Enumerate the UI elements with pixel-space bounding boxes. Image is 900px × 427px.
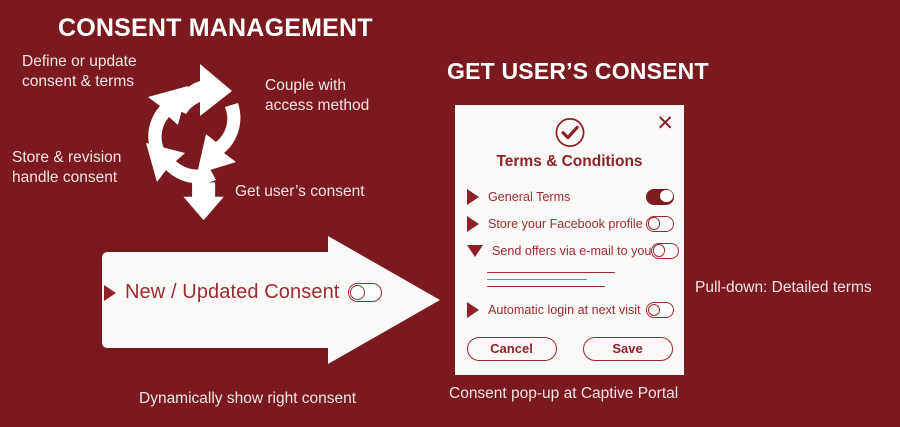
new-updated-consent-row[interactable]: New / Updated Consent xyxy=(104,281,382,304)
triangle-down-icon[interactable] xyxy=(467,245,483,257)
send-offers-detail-lines xyxy=(467,264,674,297)
cycle-label-define-line2: consent & terms xyxy=(22,72,137,92)
consent-row-label: Automatic login at next visit xyxy=(488,303,646,317)
cycle-label-store: Store & revision handle consent xyxy=(12,148,121,188)
detail-line xyxy=(487,279,587,281)
consent-toggle-general-terms[interactable] xyxy=(646,189,674,205)
consent-toggle-facebook-profile[interactable] xyxy=(646,216,674,232)
page-title-get-user-consent: GET USER’S CONSENT xyxy=(447,58,709,85)
toggle-knob xyxy=(653,244,666,257)
cycle-label-store-line1: Store & revision xyxy=(12,148,121,168)
cycle-label-define-line1: Define or update xyxy=(22,52,137,72)
consent-toggle-send-offers[interactable] xyxy=(651,243,679,259)
cycle-label-define: Define or update consent & terms xyxy=(22,52,137,92)
cancel-button[interactable]: Cancel xyxy=(467,337,557,361)
popup-action-bar: Cancel Save xyxy=(455,337,684,361)
save-button[interactable]: Save xyxy=(583,337,673,361)
consent-row-label: General Terms xyxy=(488,190,646,204)
new-updated-consent-label: New / Updated Consent xyxy=(125,281,339,304)
detail-line xyxy=(487,272,615,274)
new-updated-consent-toggle[interactable] xyxy=(348,283,382,302)
consent-row-send-offers[interactable]: Send offers via e-mail to you xyxy=(467,237,674,264)
triangle-right-icon[interactable] xyxy=(104,285,116,301)
four-arrow-cycle-icon xyxy=(128,58,286,240)
consent-row-automatic-login[interactable]: Automatic login at next visit xyxy=(467,297,674,324)
toggle-knob xyxy=(648,217,661,230)
consent-row-general-terms[interactable]: General Terms xyxy=(467,183,674,210)
consent-options-list: General Terms Store your Facebook profil… xyxy=(467,183,674,324)
triangle-right-icon[interactable] xyxy=(467,189,479,205)
consent-row-facebook-profile[interactable]: Store your Facebook profile xyxy=(467,210,674,237)
page-title-consent-management: CONSENT MANAGEMENT xyxy=(58,14,373,43)
cycle-label-store-line2: handle consent xyxy=(12,168,121,188)
popup-title: Terms & Conditions xyxy=(455,153,684,171)
caption-dynamically-show-right-consent: Dynamically show right consent xyxy=(139,390,356,408)
consent-popup-dialog: ✕ Terms & Conditions General Terms Store… xyxy=(455,105,684,375)
consent-row-label: Send offers via e-mail to you xyxy=(492,244,651,258)
triangle-right-icon[interactable] xyxy=(467,302,479,318)
slide-canvas: CONSENT MANAGEMENT GET USER’S CONSENT De… xyxy=(0,0,900,427)
caption-pulldown-detailed-terms: Pull-down: Detailed terms xyxy=(695,279,872,297)
caption-consent-popup-captive-portal: Consent pop-up at Captive Portal xyxy=(449,385,678,403)
toggle-knob xyxy=(648,304,661,317)
toggle-knob xyxy=(660,190,673,203)
toggle-knob xyxy=(350,285,366,301)
triangle-right-icon[interactable] xyxy=(467,216,479,232)
consent-toggle-automatic-login[interactable] xyxy=(646,302,674,318)
consent-row-label: Store your Facebook profile xyxy=(488,217,646,231)
check-circle-icon xyxy=(554,117,585,148)
detail-line xyxy=(487,286,605,288)
close-icon[interactable]: ✕ xyxy=(656,113,674,134)
